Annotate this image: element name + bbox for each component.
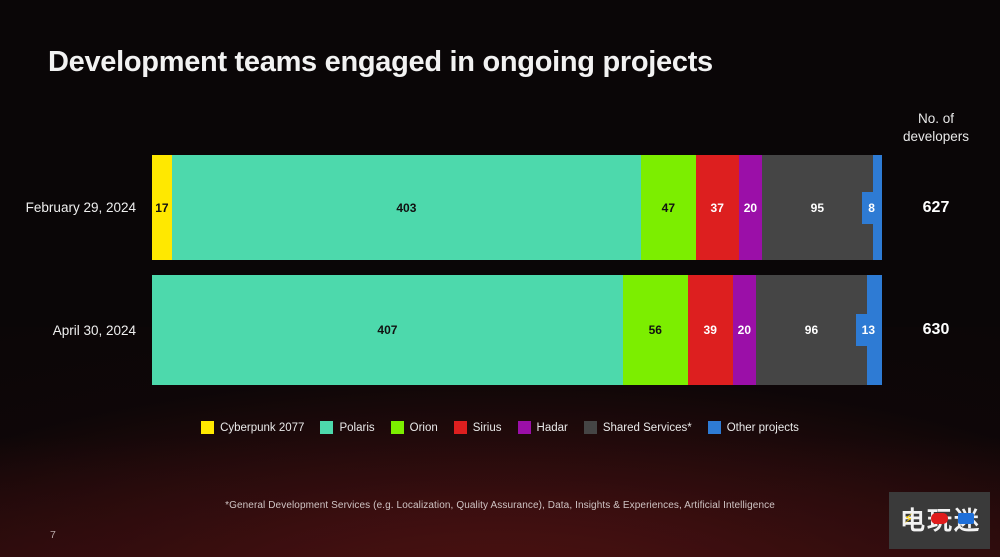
bar-segment-value: 39 <box>704 323 717 337</box>
bar-segment-value: 403 <box>396 201 416 215</box>
legend-swatch-icon <box>454 421 467 434</box>
watermark-char-1: 电 <box>900 508 925 533</box>
bar-segment: 407 <box>152 275 623 385</box>
bar-segment-value: 56 <box>649 323 662 337</box>
legend-swatch-icon <box>391 421 404 434</box>
legend-item[interactable]: Polaris <box>320 421 374 434</box>
bar-segment-value: 95 <box>811 201 824 215</box>
bar-segment: 8 <box>873 155 882 260</box>
legend-item[interactable]: Sirius <box>454 421 502 434</box>
bar-segment: 37 <box>696 155 739 260</box>
bar-segment: 403 <box>172 155 641 260</box>
row-total: 627 <box>886 155 986 260</box>
row-category-label: April 30, 2024 <box>0 275 145 385</box>
bar-segment-value: 20 <box>738 323 751 337</box>
legend-swatch-icon <box>201 421 214 434</box>
legend-label: Orion <box>410 422 438 434</box>
row-total: 630 <box>886 275 986 385</box>
bar-segment: 20 <box>739 155 762 260</box>
page-number: 7 <box>50 529 56 541</box>
bar-segment: 39 <box>688 275 733 385</box>
bar-segment-value: 47 <box>662 201 675 215</box>
bar-segment-value: 17 <box>155 201 168 215</box>
bar-segment-value: 37 <box>711 201 724 215</box>
legend-swatch-icon <box>708 421 721 434</box>
legend-item[interactable]: Cyberpunk 2077 <box>201 421 304 434</box>
bar-segment-value: 407 <box>377 323 397 337</box>
stacked-bar-chart: February 29, 202417403473720958627April … <box>0 0 1000 557</box>
legend-swatch-icon <box>584 421 597 434</box>
legend-label: Shared Services* <box>603 422 692 434</box>
legend-label: Sirius <box>473 422 502 434</box>
watermark-logo: 电 玩 迷 <box>889 492 990 549</box>
bar-segment-value: 20 <box>744 201 757 215</box>
bar-segment: 13 <box>867 275 882 385</box>
bar-segment: 95 <box>762 155 873 260</box>
stacked-bar: 17403473720958 <box>152 155 882 260</box>
legend-swatch-icon <box>518 421 531 434</box>
row-category-label: February 29, 2024 <box>0 155 145 260</box>
watermark-char-2: 玩 <box>927 508 952 533</box>
bar-segment: 17 <box>152 155 172 260</box>
legend-label: Other projects <box>727 422 799 434</box>
legend-item[interactable]: Shared Services* <box>584 421 692 434</box>
slide: Development teams engaged in ongoing pro… <box>0 0 1000 557</box>
bar-segment: 56 <box>623 275 688 385</box>
legend-item[interactable]: Hadar <box>518 421 568 434</box>
footnote: *General Development Services (e.g. Loca… <box>0 500 1000 511</box>
legend-label: Hadar <box>537 422 568 434</box>
legend-swatch-icon <box>320 421 333 434</box>
legend-label: Polaris <box>339 422 374 434</box>
legend-item[interactable]: Other projects <box>708 421 799 434</box>
chart-legend: Cyberpunk 2077PolarisOrionSiriusHadarSha… <box>0 421 1000 434</box>
bar-segment: 47 <box>641 155 696 260</box>
bar-segment-value: 96 <box>805 323 818 337</box>
bar-segment: 96 <box>756 275 867 385</box>
legend-label: Cyberpunk 2077 <box>220 422 304 434</box>
legend-item[interactable]: Orion <box>391 421 438 434</box>
stacked-bar: 4075639209613 <box>152 275 882 385</box>
bar-segment: 20 <box>733 275 756 385</box>
watermark-char-3: 迷 <box>954 508 979 533</box>
